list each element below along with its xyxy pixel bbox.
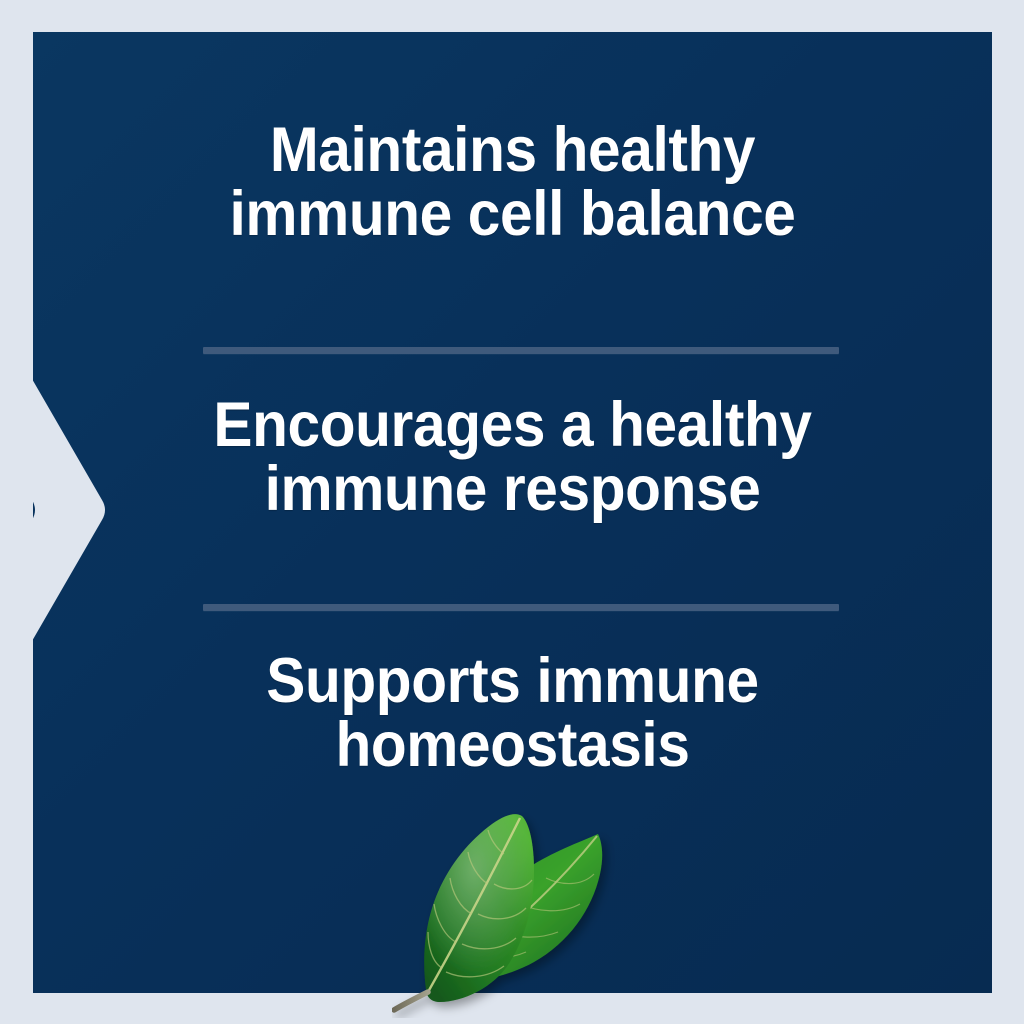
claim-divider-2: [203, 604, 839, 611]
benefits-callout-graphic: Maintains healthy immune cell balance En…: [0, 0, 1024, 1024]
claim-text-2: Encourages a healthy immune response: [67, 393, 959, 522]
leaf-image: [392, 812, 632, 1018]
claim-text-1: Maintains healthy immune cell balance: [67, 118, 959, 247]
claim-divider-1: [203, 347, 839, 354]
claim-text-3: Supports immune homeostasis: [67, 649, 959, 778]
